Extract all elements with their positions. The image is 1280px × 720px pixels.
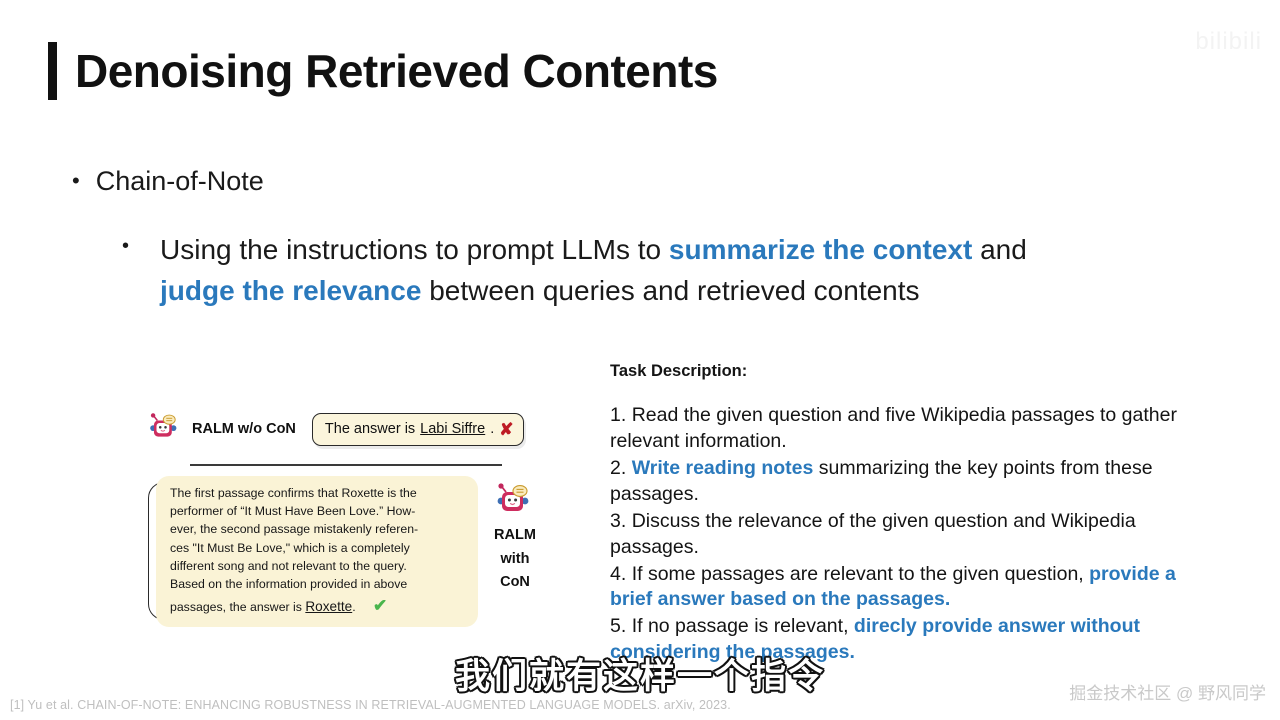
task-item-text: If some passages are relevant to the giv… — [632, 563, 1089, 585]
check-mark-icon: ✔ — [373, 596, 387, 615]
task-item-number: 5. — [610, 615, 632, 637]
note-line: different song and not relevant to the q… — [170, 557, 466, 575]
bullet-text-part2: and — [972, 234, 1027, 265]
task-list-item: 3. Discuss the relevance of the given qu… — [610, 509, 1190, 561]
cross-mark-icon: ✘ — [499, 421, 513, 438]
note-final-answer: Roxette — [305, 599, 352, 614]
bullet-level2-body: Using the instructions to prompt LLMs to… — [160, 230, 1232, 311]
task-item-number: 1. — [610, 404, 632, 426]
chain-of-note-figure: RALM w/o CoN The answer is Labi Siffre. … — [148, 404, 548, 644]
task-description-list: 1. Read the given question and five Wiki… — [610, 403, 1190, 666]
bullet-level1: • Chain-of-Note — [72, 166, 264, 197]
bullet-highlight-judge: judge the relevance — [160, 275, 421, 306]
ralm-with-con-line2: with — [480, 550, 550, 570]
robot-icon — [148, 412, 182, 446]
task-item-number: 4. — [610, 563, 632, 585]
task-list-item: 2. Write reading notes summarizing the k… — [610, 456, 1190, 508]
note-line: ever, the second passage mistakenly refe… — [170, 520, 466, 538]
ralm-with-con-block: RALM with CoN — [480, 482, 550, 593]
note-line: performer of “It Must Have Been Love.” H… — [170, 502, 466, 520]
note-final-prefix: passages, the answer is — [170, 600, 305, 614]
title-accent-bar — [48, 42, 57, 100]
task-item-number: 2. — [610, 457, 632, 479]
note-final-suffix: . — [352, 600, 355, 614]
video-platform-watermark: bilibili — [1195, 28, 1262, 56]
note-line: Based on the information provided in abo… — [170, 575, 466, 593]
robot-icon — [480, 482, 550, 522]
ralm-with-con-line1: RALM — [480, 526, 550, 546]
title-text: Denoising Retrieved Contents — [75, 48, 718, 94]
task-item-text: If no passage is relevant, — [632, 615, 854, 637]
burned-in-subtitle: 我们就有这样一个指令 — [0, 648, 1280, 699]
wrong-answer-bubble: The answer is Labi Siffre. ✘ — [312, 413, 525, 446]
ralm-without-con-row: RALM w/o CoN The answer is Labi Siffre. … — [148, 412, 524, 446]
bullet-highlight-summarize: summarize the context — [669, 234, 972, 265]
bullet-glyph-icon: • — [72, 166, 80, 196]
reading-note-box: The first passage confirms that Roxette … — [156, 476, 478, 627]
ralm-without-con-label: RALM w/o CoN — [192, 421, 296, 437]
note-line: The first passage confirms that Roxette … — [170, 484, 466, 502]
bullet-glyph-icon: • — [122, 232, 129, 261]
note-final-line: passages, the answer is Roxette. ✔ — [170, 593, 466, 618]
bullet-text-part3: between queries and retrieved contents — [421, 275, 919, 306]
task-item-number: 3. — [610, 510, 632, 532]
task-description-panel: Task Description: 1. Read the given ques… — [610, 362, 1190, 667]
footer-citation: [1] Yu et al. CHAIN-OF-NOTE: ENHANCING R… — [10, 698, 731, 712]
task-item-text: Discuss the relevance of the given quest… — [610, 510, 1136, 558]
task-item-highlight: Write reading notes — [632, 457, 814, 479]
answer-suffix: . — [490, 421, 494, 437]
slide-canvas: Denoising Retrieved Contents • Chain-of-… — [0, 0, 1280, 720]
bullet-level2: • Using the instructions to prompt LLMs … — [122, 230, 1232, 311]
bullet-text-part1: Using the instructions to prompt LLMs to — [160, 234, 669, 265]
page-title: Denoising Retrieved Contents — [48, 42, 718, 100]
task-description-heading: Task Description: — [610, 362, 1190, 381]
ralm-with-con-line3: CoN — [480, 573, 550, 593]
task-list-item: 4. If some passages are relevant to the … — [610, 562, 1190, 614]
figure-divider — [190, 464, 502, 466]
answer-entity: Labi Siffre — [420, 421, 485, 437]
task-list-item: 1. Read the given question and five Wiki… — [610, 403, 1190, 455]
bullet-level1-label: Chain-of-Note — [96, 166, 264, 197]
task-item-text: Read the given question and five Wikiped… — [610, 404, 1177, 452]
note-line: ces "It Must Be Love," which is a comple… — [170, 539, 466, 557]
answer-prefix: The answer is — [325, 421, 415, 437]
